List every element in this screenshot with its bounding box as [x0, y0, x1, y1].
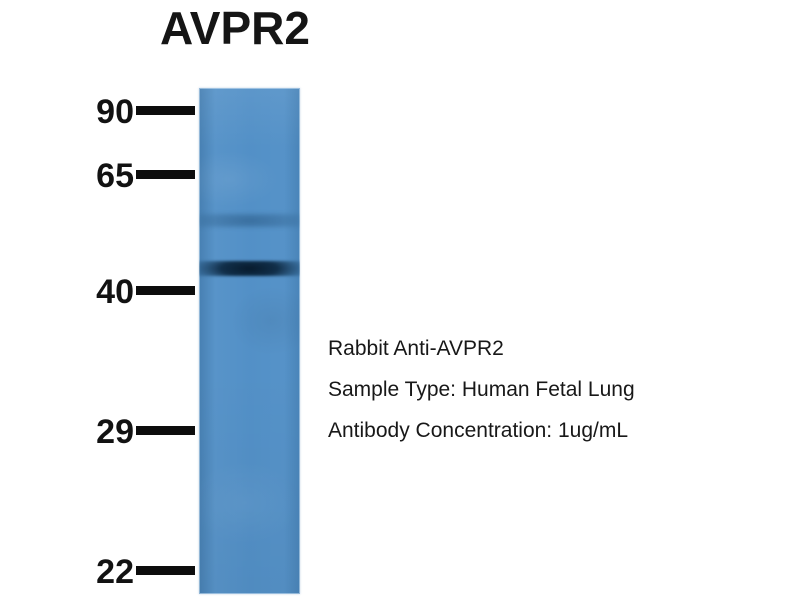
annotation-antibody: Rabbit Anti-AVPR2: [328, 328, 768, 369]
marker-22: 22: [0, 552, 200, 592]
marker-tick-22: [136, 566, 195, 575]
marker-label-90: 90: [44, 92, 134, 132]
marker-label-40: 40: [44, 272, 134, 312]
secondary-band: [199, 214, 300, 227]
marker-65: 65: [0, 156, 200, 196]
marker-label-65: 65: [44, 156, 134, 196]
primary-band: [199, 261, 300, 276]
marker-label-29: 29: [44, 412, 134, 452]
annotation-concentration: Antibody Concentration: 1ug/mL: [328, 410, 768, 451]
marker-tick-40: [136, 286, 195, 295]
marker-label-22: 22: [44, 552, 134, 592]
marker-40: 40: [0, 272, 200, 312]
blot-annotations: Rabbit Anti-AVPR2 Sample Type: Human Fet…: [328, 328, 768, 451]
annotation-sample-type: Sample Type: Human Fetal Lung: [328, 369, 768, 410]
marker-tick-29: [136, 426, 195, 435]
western-blot-figure: AVPR2 90 65 40 29 22 Rabbit Anti-AVPR2 S…: [0, 0, 800, 600]
sample-lane: [199, 88, 300, 594]
marker-90: 90: [0, 92, 200, 132]
marker-tick-90: [136, 106, 195, 115]
molecular-weight-ladder: 90 65 40 29 22: [0, 0, 200, 600]
marker-tick-65: [136, 170, 195, 179]
marker-29: 29: [0, 412, 200, 452]
